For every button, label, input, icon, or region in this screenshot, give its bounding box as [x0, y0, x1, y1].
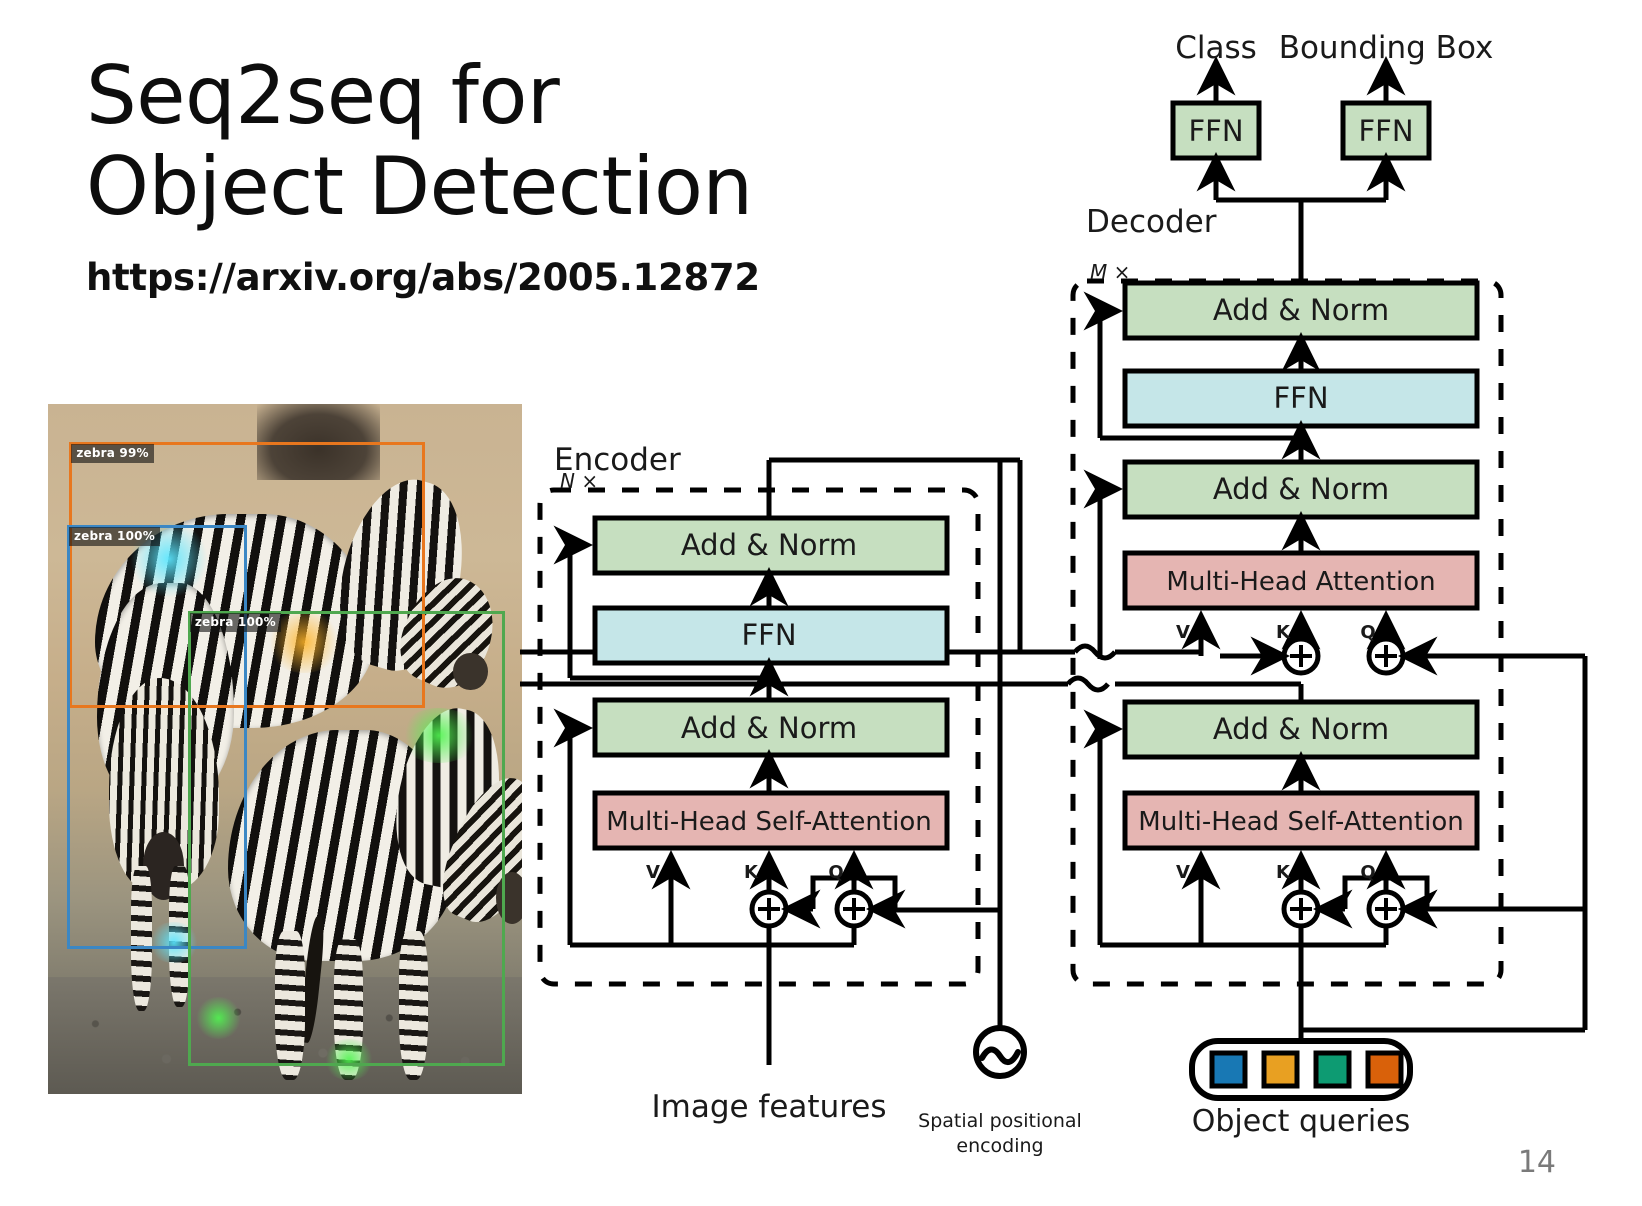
decoder-cross-k-label: K	[1276, 622, 1291, 643]
detection-box-2[interactable]: zebra 100%	[188, 611, 506, 1066]
head-ffn-bbox-label: FFN	[1358, 114, 1413, 148]
object-query-1[interactable]	[1264, 1053, 1297, 1086]
encoder-self-attention-label: Multi-Head Self-Attention	[606, 807, 931, 837]
object-query-3[interactable]	[1368, 1053, 1401, 1086]
encoder-repeat-label: N ×	[560, 469, 598, 493]
encoder-ffn-label: FFN	[741, 618, 796, 652]
detection-label-1: zebra 100%	[69, 527, 160, 546]
detection-example-image: zebra 99% zebra 100% zebra 100%	[48, 404, 522, 1094]
object-queries-label: Object queries	[1192, 1104, 1411, 1139]
encoder-q-label: Q	[828, 862, 843, 883]
decoder-ffn-label: FFN	[1273, 381, 1328, 415]
decoder-self-v-label: V	[1176, 862, 1190, 883]
decoder-self-attention-label: Multi-Head Self-Attention	[1138, 807, 1463, 837]
detection-label-0: zebra 99%	[71, 444, 153, 463]
class-output-label: Class	[1175, 30, 1257, 66]
decoder-add-norm-top-label: Add & Norm	[1213, 293, 1389, 327]
encoder-add-norm-top-label: Add & Norm	[681, 528, 857, 562]
decoder-add-norm-mid-label: Add & Norm	[1213, 472, 1389, 506]
detr-architecture-diagram: Class Bounding Box FFN FFN Decoder M × A…	[520, 0, 1642, 1206]
decoder-self-k-label: K	[1276, 862, 1291, 883]
head-ffn-class-label: FFN	[1188, 114, 1243, 148]
decoder-cross-attention-label: Multi-Head Attention	[1166, 567, 1435, 597]
decoder-cross-v-label: V	[1176, 622, 1190, 643]
positional-encoding-label-line1: Spatial positional	[918, 1110, 1082, 1132]
page-number: 14	[1518, 1145, 1556, 1180]
encoder-v-label: V	[646, 862, 660, 883]
decoder-cross-q-label: Q	[1360, 622, 1375, 643]
encoder-add-norm-bottom-label: Add & Norm	[681, 711, 857, 745]
object-query-2[interactable]	[1316, 1053, 1349, 1086]
decoder-title: Decoder	[1086, 204, 1217, 240]
slide-root: Seq2seq for Object Detection https://arx…	[0, 0, 1642, 1206]
decoder-repeat-label: M ×	[1090, 260, 1130, 284]
detection-label-2: zebra 100%	[190, 613, 281, 632]
object-query-0[interactable]	[1212, 1053, 1245, 1086]
positional-encoding-label-line2: encoding	[956, 1135, 1043, 1157]
bounding-box-output-label: Bounding Box	[1279, 30, 1494, 66]
decoder-self-q-label: Q	[1360, 862, 1375, 883]
image-features-label: Image features	[651, 1089, 886, 1125]
sine-wave-circle-icon	[976, 1028, 1024, 1076]
decoder-add-norm-bottom-label: Add & Norm	[1213, 712, 1389, 746]
encoder-k-label: K	[744, 862, 759, 883]
